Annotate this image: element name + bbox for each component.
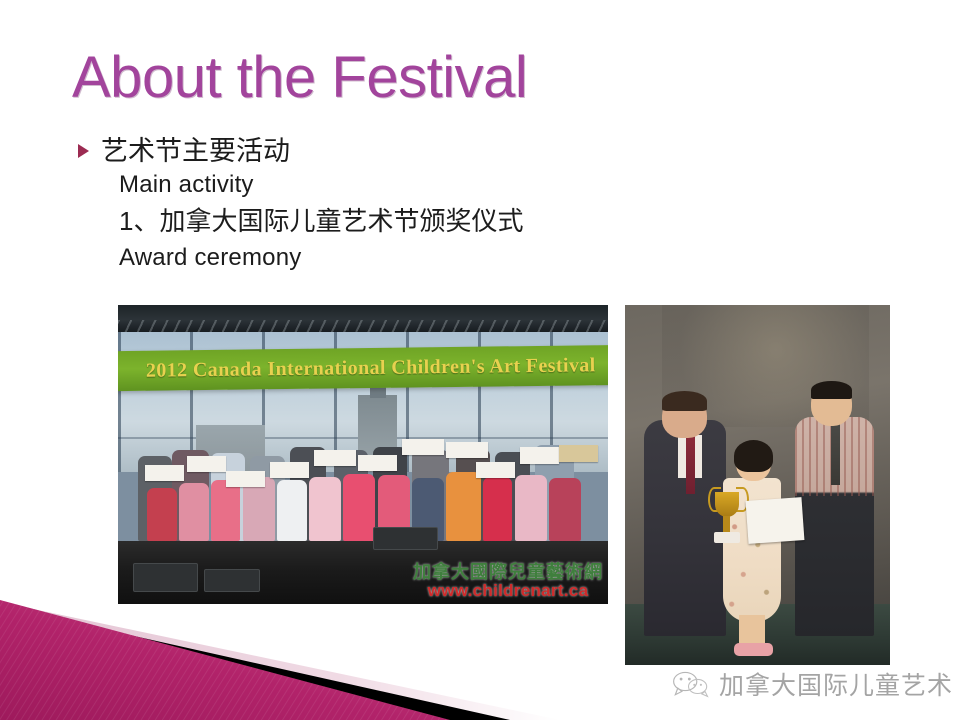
photo-presenter-left-hair — [662, 391, 707, 411]
photo-stage-monitor-mid — [204, 569, 260, 592]
festival-banner-text: 2012 Canada International Children's Art… — [146, 354, 596, 382]
photo-award-recipient-shoes — [734, 643, 774, 656]
photo-stage-truss — [118, 305, 608, 332]
item1-cn-text: 1、加拿大国际儿童艺术节颁奖仪式 — [119, 202, 638, 240]
content-block: 艺术节主要活动 Main activity 1、加拿大国际儿童艺术节颁奖仪式 A… — [78, 134, 638, 276]
photo-award-recipient-legs — [739, 615, 766, 647]
corner-black-stripe — [0, 606, 510, 720]
heading-en-text: Main activity — [119, 168, 638, 202]
photo-stage-monitor-right — [373, 527, 439, 550]
photo-presenter-right-tie — [831, 424, 840, 485]
photo-watermark: 加拿大國際兒童藝術網 www.childrenart.ca — [413, 563, 603, 600]
page-title: About the Festival — [72, 48, 527, 109]
triangle-bullet-icon — [78, 144, 89, 158]
photo-stage-monitor-left — [133, 563, 199, 592]
photo-watermark-cn: 加拿大國際兒童藝術網 — [413, 563, 603, 582]
bullet-row: 艺术节主要活动 — [78, 134, 638, 168]
photo-trophy-base — [714, 532, 741, 544]
corner-pale-band — [0, 602, 560, 720]
photo-certificate — [745, 498, 804, 545]
festival-banner: 2012 Canada International Children's Art… — [118, 345, 608, 392]
slide: About the Festival 艺术节主要活动 Main activity… — [0, 0, 960, 720]
item1-en-text: Award ceremony — [119, 240, 638, 276]
photo-children-group — [118, 395, 608, 542]
photo-trophy-stem — [723, 516, 730, 534]
wechat-account-name: 加拿大国际儿童艺术 — [719, 666, 953, 702]
wechat-icon — [672, 670, 710, 698]
heading-cn-text: 艺术节主要活动 — [101, 134, 290, 168]
award-ceremony-photo — [625, 305, 890, 665]
wechat-watermark: 加拿大国际儿童艺术 — [672, 666, 953, 702]
photo-watermark-url: www.childrenart.ca — [413, 582, 603, 600]
corner-texture-overlay — [0, 600, 450, 720]
photo-award-recipient-hair — [734, 440, 774, 472]
photo-presenter-right-hair — [811, 381, 852, 399]
corner-magenta-triangle — [0, 600, 450, 720]
group-photo-award-winners: 2012 Canada International Children's Art… — [118, 305, 608, 604]
photo-presenter-left-tie — [686, 436, 694, 494]
